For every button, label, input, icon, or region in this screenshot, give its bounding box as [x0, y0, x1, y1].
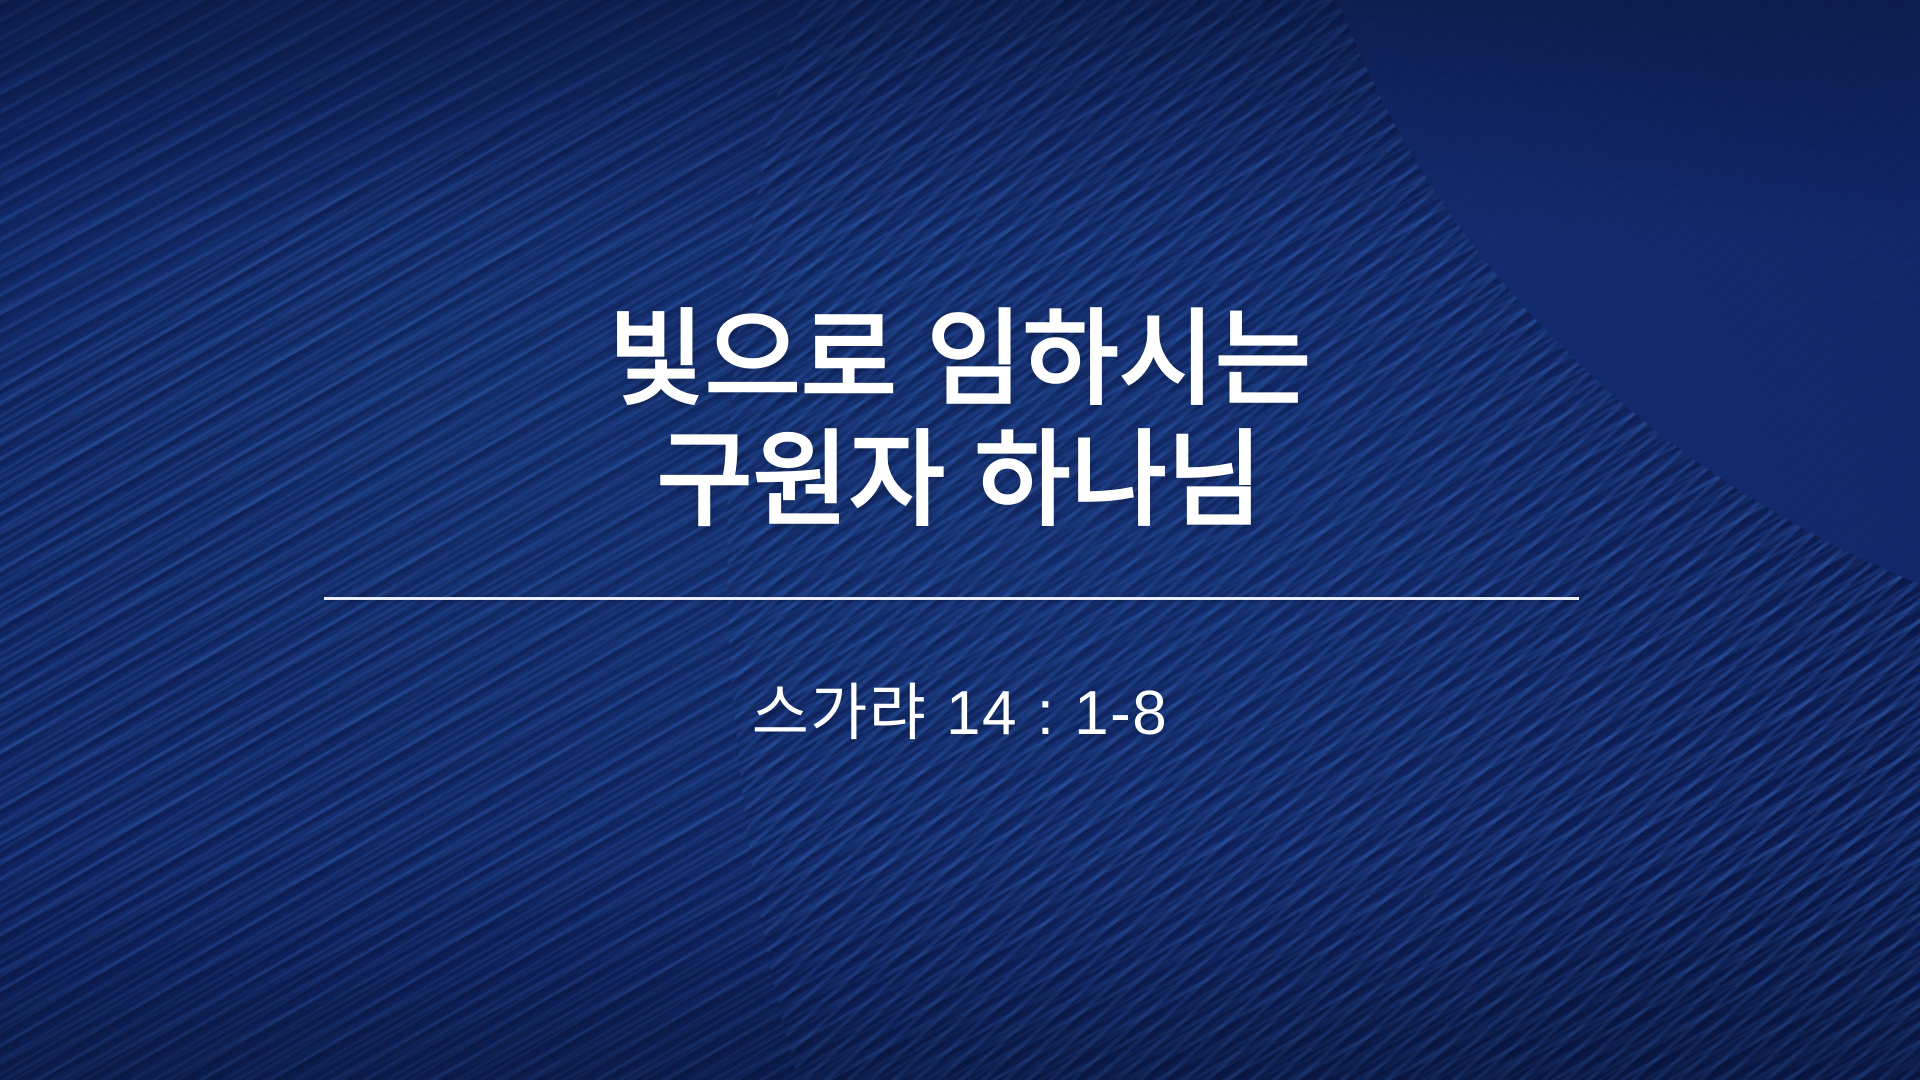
title-line-1: 빛으로 임하시는: [0, 300, 1920, 421]
title-divider: [324, 597, 1579, 600]
slide-title: 빛으로 임하시는 구원자 하나님: [0, 300, 1920, 541]
title-slide: 빛으로 임하시는 구원자 하나님 스가랴 14 : 1-8: [0, 0, 1920, 1080]
title-line-2: 구원자 하나님: [0, 421, 1920, 542]
slide-content: 빛으로 임하시는 구원자 하나님 스가랴 14 : 1-8: [0, 0, 1920, 1080]
scripture-reference: 스가랴 14 : 1-8: [752, 662, 1169, 752]
